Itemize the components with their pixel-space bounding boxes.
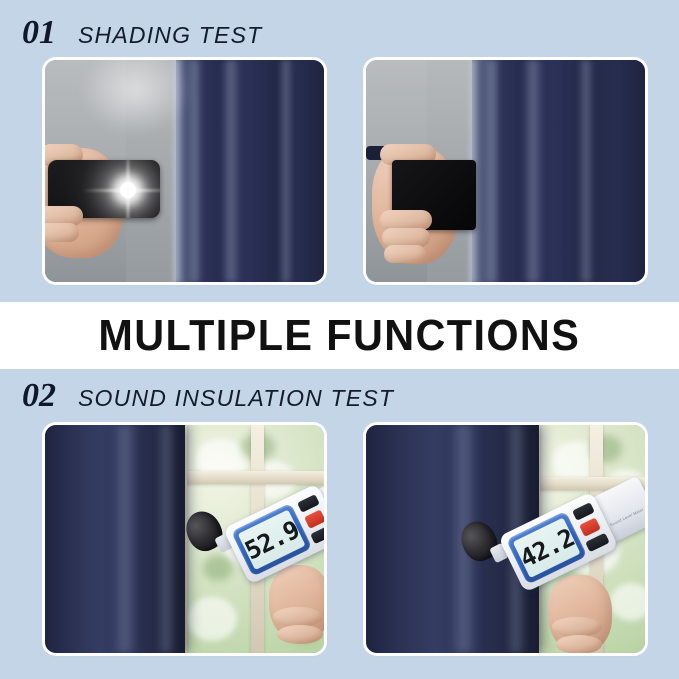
photo-sound-curtain-closed-content: Sound Level Meter 42.2 [366, 425, 645, 653]
photo-shading-light-blocked [366, 60, 645, 282]
photo-sound-window-open: 52.9 [45, 425, 324, 653]
headline-text: MULTIPLE FUNCTIONS [99, 314, 581, 358]
finger-4 [384, 245, 426, 263]
finger-1 [552, 617, 602, 637]
photo-shading-light-on [45, 60, 324, 282]
curtain-fold-3 [279, 60, 293, 282]
curtain-sheen-1 [112, 425, 138, 653]
infographic-page: 01 SHADING TEST [0, 0, 679, 679]
finger-1 [273, 607, 323, 627]
finger-3 [45, 223, 79, 242]
meter-brand-label: Sound Level Meter [609, 507, 644, 528]
section-heading-02: 02 SOUND INSULATION TEST [22, 379, 394, 413]
curtain-fold-2 [221, 60, 241, 282]
curtain-fold-3 [578, 60, 594, 282]
meter-reading-value: 52.9 [241, 516, 302, 563]
photo-shading-light-blocked-content [366, 60, 645, 282]
foliage-blob [187, 597, 237, 641]
photo-sound-curtain-closed: Sound Level Meter 42.2 [366, 425, 645, 653]
foliage-blob [610, 583, 645, 621]
section-title-01: SHADING TEST [78, 24, 262, 47]
flashlight-glow [75, 60, 195, 140]
section-title-02: SOUND INSULATION TEST [78, 387, 394, 410]
finger-2 [277, 625, 323, 644]
headline-banner: MULTIPLE FUNCTIONS [0, 302, 679, 369]
curtain-fold-1 [483, 60, 501, 282]
finger-2 [556, 635, 602, 653]
meter-reading-value: 42.2 [516, 524, 577, 571]
section-number-01: 01 [22, 16, 56, 50]
curtain-fold-2 [522, 60, 544, 282]
photo-sound-window-open-content: 52.9 [45, 425, 324, 653]
section-heading-01: 01 SHADING TEST [22, 16, 262, 50]
section-number-02: 02 [22, 379, 56, 413]
photo-shading-light-on-content [45, 60, 324, 282]
finger-2 [380, 210, 432, 230]
foliage-shadow [203, 555, 233, 581]
curtain-sheen-2 [157, 425, 175, 653]
flashlight-rays [127, 190, 129, 192]
